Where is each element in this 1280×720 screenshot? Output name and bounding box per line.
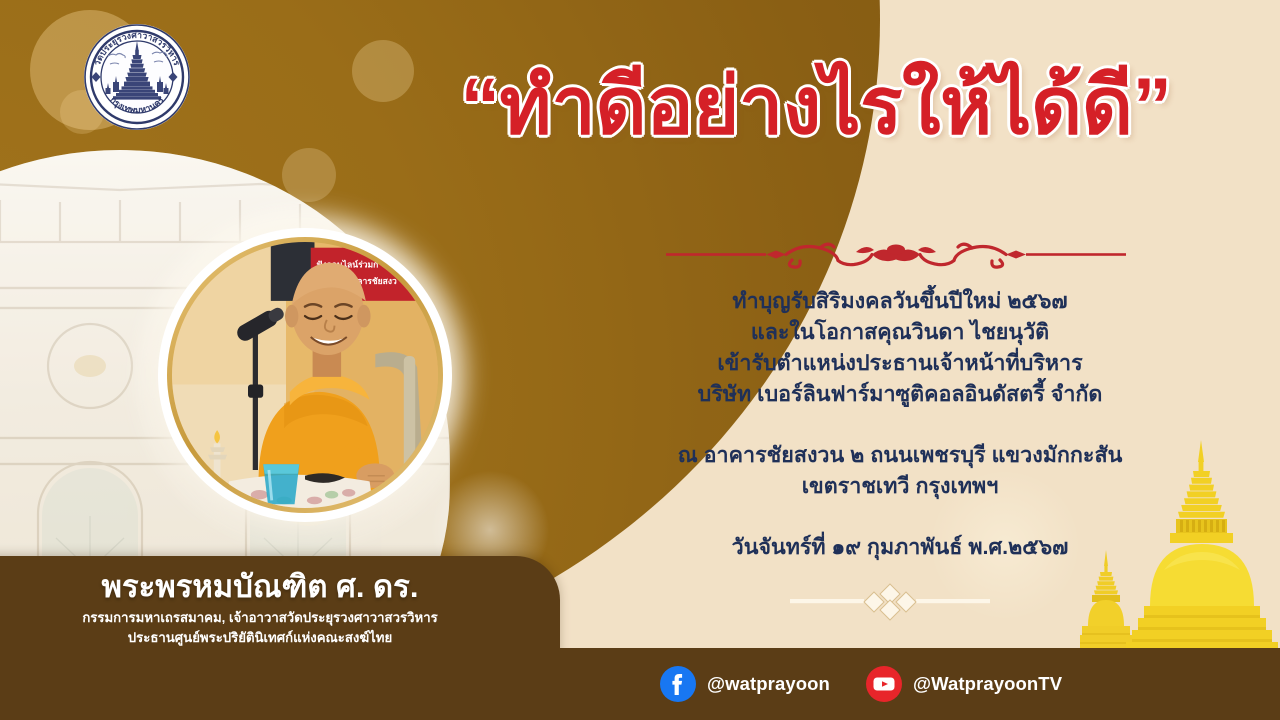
info-line: เข้ารับตำแหน่งประธานเจ้าหน้าที่บริหาร <box>600 348 1200 379</box>
headline-title: “ทำดีอย่างไรให้ได้ดี” <box>386 48 1246 164</box>
speaker-name: พระพรหมบัณฑิต ศ. ดร. <box>0 570 520 604</box>
info-line: และในโอกาสคุณวินดา ไชยนุวัติ <box>600 317 1200 348</box>
facebook-icon[interactable] <box>660 666 696 702</box>
facebook-link[interactable]: @watprayoon <box>660 666 830 702</box>
portrait-gold-ring: ฟังออนไลน์ร่วมกั VE จากอาคารชัยสงว <box>167 237 443 513</box>
youtube-handle[interactable]: @WatprayoonTV <box>913 673 1062 695</box>
footer-bar: @watprayoon @WatprayoonTV <box>0 648 1280 720</box>
youtube-icon[interactable] <box>866 666 902 702</box>
social-links: @watprayoon @WatprayoonTV <box>660 648 1062 720</box>
info-line: ทำบุญรับสิริมงคลวันขึ้นปีใหม่ ๒๕๖๗ <box>600 286 1200 317</box>
info-paragraph-1: ทำบุญรับสิริมงคลวันขึ้นปีใหม่ ๒๕๖๗ และใน… <box>600 286 1200 410</box>
monk-portrait-frame: ฟังออนไลน์ร่วมกั VE จากอาคารชัยสงว <box>158 228 452 522</box>
facebook-handle[interactable]: @watprayoon <box>707 673 830 695</box>
info-line: บริษัท เบอร์ลินฟาร์มาซูติคอลอินดัสตรี้ จ… <box>600 379 1200 410</box>
diamond-cluster-rule <box>790 580 990 622</box>
monk-photo: ฟังออนไลน์ร่วมกั VE จากอาคารชัยสงว <box>172 242 438 508</box>
youtube-link[interactable]: @WatprayoonTV <box>866 666 1062 702</box>
speaker-role: กรรมการมหาเถรสมาคม, เจ้าอาวาสวัดประยุรวง… <box>0 608 520 628</box>
temple-seal-logo: วัดประยุรวงศาวาสวรวิหาร กรุงเทพมหานคร <box>82 22 192 132</box>
poster-canvas: วัดประยุรวงศาวาสวรวิหาร กรุงเทพมหานคร “ท… <box>0 0 1280 720</box>
portrait-clip: ฟังออนไลน์ร่วมกั VE จากอาคารชัยสงว <box>172 242 438 508</box>
speaker-role: ประธานศูนย์พระปริยัตินิเทศก์แห่งคณะสงฆ์ไ… <box>0 628 520 648</box>
ornate-flourish-divider <box>660 234 1132 274</box>
